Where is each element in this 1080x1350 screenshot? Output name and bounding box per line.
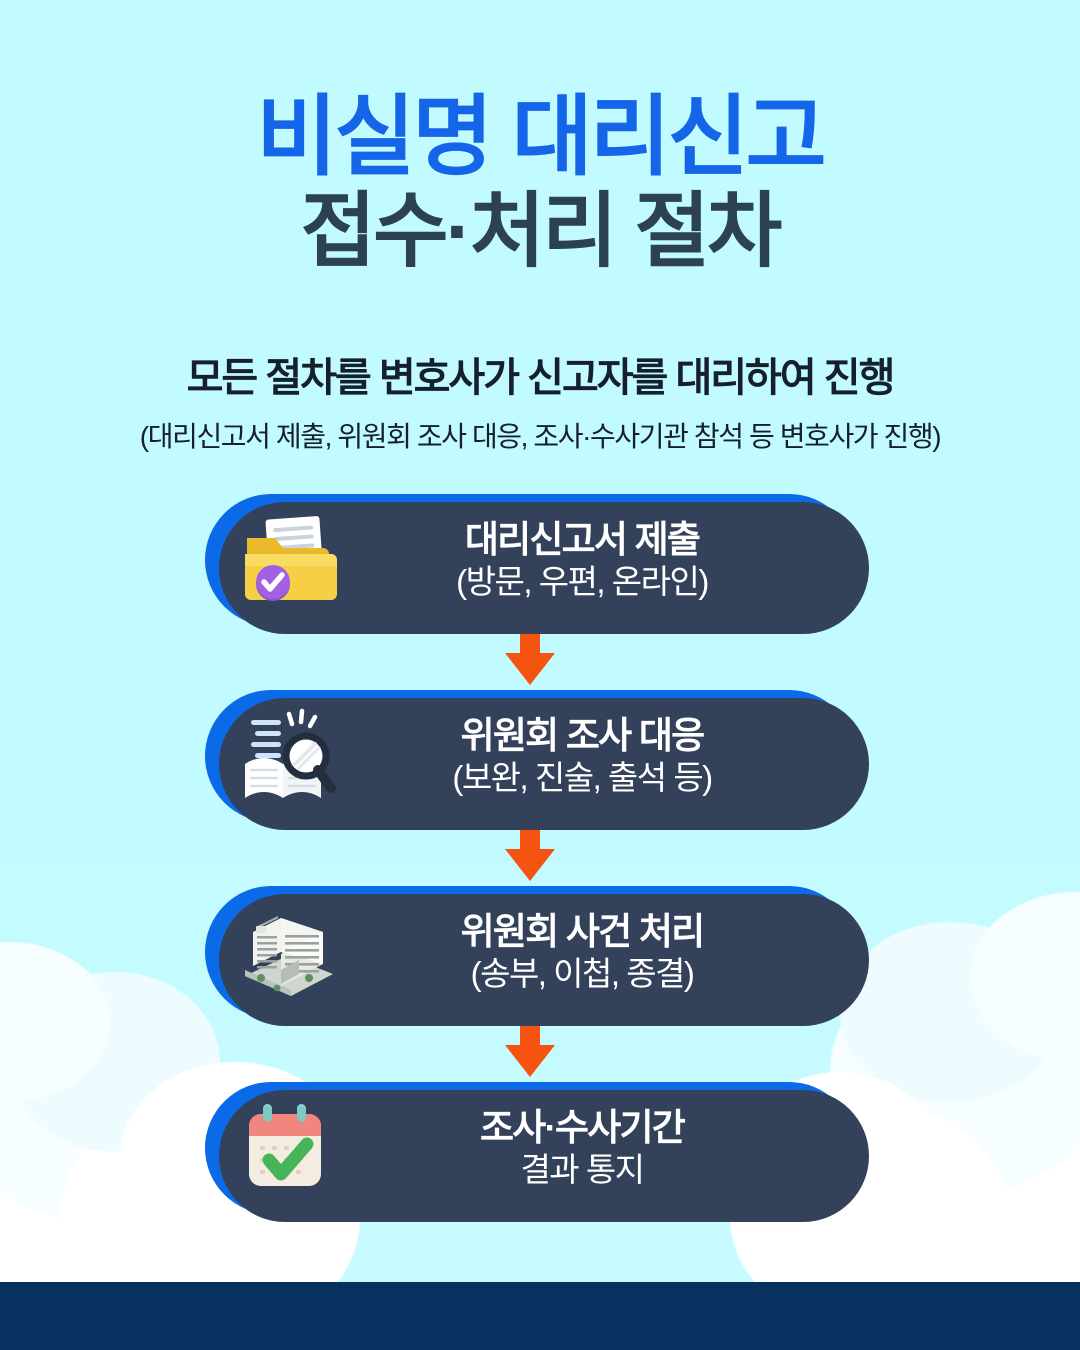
poster-subtitle: 모든 절차를 변호사가 신고자를 대리하여 진행 (대리신고서 제출, 위원회 … bbox=[0, 345, 1080, 455]
step-card[interactable]: 위원회 사건 처리 (송부, 이첩, 종결) bbox=[205, 886, 855, 1018]
arrow-down-icon bbox=[497, 823, 563, 885]
step-subtitle: (송부, 이첩, 종결) bbox=[355, 956, 809, 993]
process-step-3: 위원회 사건 처리 (송부, 이첩, 종결) bbox=[205, 886, 875, 1018]
arrow-down-icon bbox=[497, 627, 563, 689]
process-step-2: 위원회 조사 대응 (보완, 진술, 출석 등) bbox=[205, 690, 875, 822]
footer-band bbox=[0, 1282, 1080, 1350]
government-building-icon bbox=[205, 886, 355, 1018]
subtitle-main: 모든 절차를 변호사가 신고자를 대리하여 진행 bbox=[0, 345, 1080, 403]
flow-connector-2 bbox=[205, 822, 855, 886]
subtitle-note: (대리신고서 제출, 위원회 조사 대응, 조사·수사기관 참석 등 변호사가 … bbox=[0, 415, 1080, 455]
step-title: 조사·수사기간 bbox=[355, 1107, 809, 1148]
step-title: 위원회 사건 처리 bbox=[355, 911, 809, 952]
calendar-check-icon bbox=[205, 1082, 355, 1214]
step-title: 위원회 조사 대응 bbox=[355, 715, 809, 756]
process-step-1: 대리신고서 제출 (방문, 우편, 온라인) bbox=[205, 494, 875, 626]
step-card-text: 조사·수사기간 결과 통지 bbox=[355, 1107, 855, 1189]
step-card-text: 대리신고서 제출 (방문, 우편, 온라인) bbox=[355, 519, 855, 601]
process-step-4: 조사·수사기간 결과 통지 bbox=[205, 1082, 875, 1214]
arrow-down-icon bbox=[497, 1019, 563, 1081]
step-title: 대리신고서 제출 bbox=[355, 519, 809, 560]
step-card-text: 위원회 사건 처리 (송부, 이첩, 종결) bbox=[355, 911, 855, 993]
step-subtitle: (방문, 우편, 온라인) bbox=[355, 564, 809, 601]
step-card-text: 위원회 조사 대응 (보완, 진술, 출석 등) bbox=[355, 715, 855, 797]
folder-document-check-icon bbox=[205, 494, 355, 626]
book-magnifier-icon bbox=[205, 690, 355, 822]
headline-line-2: 접수·처리 절차 bbox=[0, 190, 1080, 274]
infographic-poster: 비실명 대리신고 접수·처리 절차 모든 절차를 변호사가 신고자를 대리하여 … bbox=[0, 0, 1080, 1350]
flow-connector-1 bbox=[205, 626, 855, 690]
step-card[interactable]: 위원회 조사 대응 (보완, 진술, 출석 등) bbox=[205, 690, 855, 822]
headline-line-1: 비실명 대리신고 bbox=[0, 92, 1080, 182]
step-subtitle: 결과 통지 bbox=[355, 1152, 809, 1189]
step-card[interactable]: 조사·수사기간 결과 통지 bbox=[205, 1082, 855, 1214]
process-flow: 대리신고서 제출 (방문, 우편, 온라인) bbox=[205, 494, 875, 1214]
flow-connector-3 bbox=[205, 1018, 855, 1082]
poster-headline: 비실명 대리신고 접수·처리 절차 bbox=[0, 92, 1080, 273]
step-card[interactable]: 대리신고서 제출 (방문, 우편, 온라인) bbox=[205, 494, 855, 626]
step-subtitle: (보완, 진술, 출석 등) bbox=[355, 760, 809, 797]
